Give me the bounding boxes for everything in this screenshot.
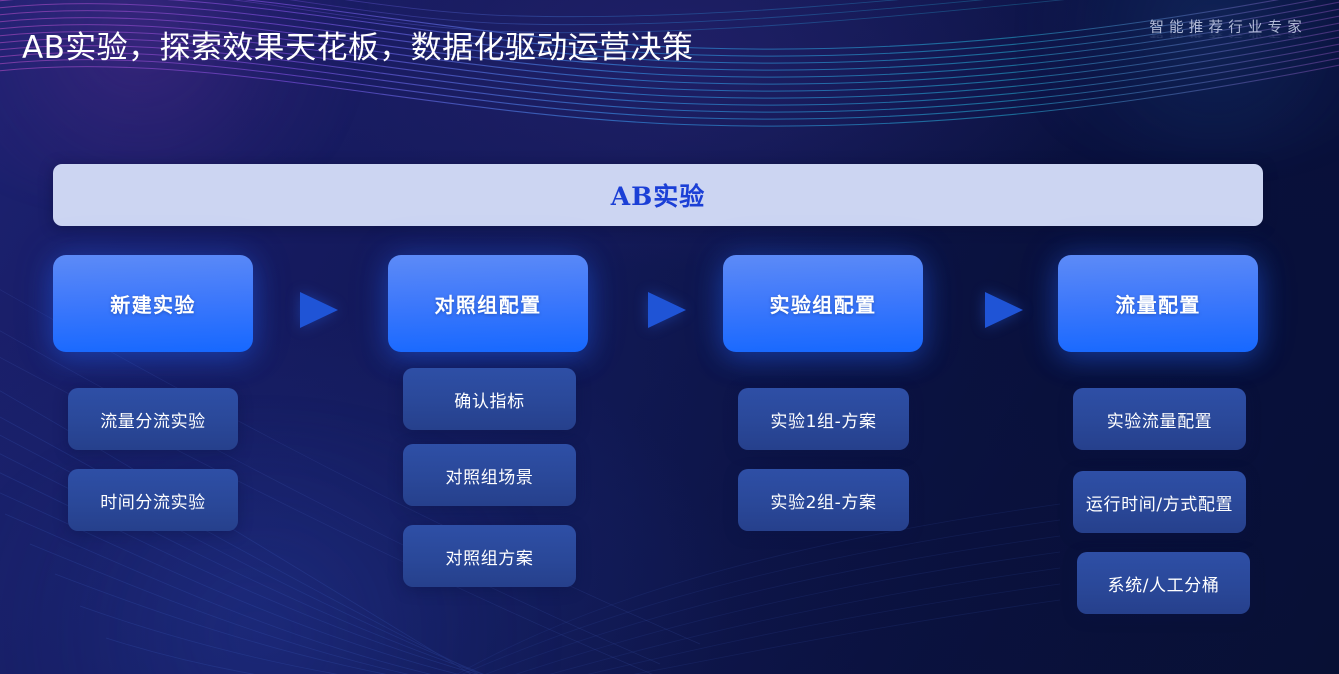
sub-box-traffic-split-experiment[interactable]: 流量分流实验 bbox=[68, 388, 238, 450]
sub-box-runtime-method-config[interactable]: 运行时间/方式配置 bbox=[1073, 471, 1246, 533]
stage-box-control-group-config[interactable]: 对照组配置 bbox=[388, 255, 588, 352]
triangle-right-icon bbox=[985, 292, 1023, 328]
sub-box-label: 确认指标 bbox=[454, 387, 524, 412]
sub-box-label: 实验1组-方案 bbox=[770, 407, 876, 432]
stage-box-new-experiment[interactable]: 新建实验 bbox=[53, 255, 253, 352]
header-banner-label: AB实验 bbox=[611, 177, 706, 213]
sub-box-label: 时间分流实验 bbox=[100, 488, 206, 513]
sub-box-experiment-group-1-plan[interactable]: 实验1组-方案 bbox=[738, 388, 909, 450]
triangle-right-icon bbox=[648, 292, 686, 328]
sub-box-experiment-group-2-plan[interactable]: 实验2组-方案 bbox=[738, 469, 909, 531]
sub-box-label: 系统/人工分桶 bbox=[1108, 571, 1220, 596]
sub-box-control-group-scenario[interactable]: 对照组场景 bbox=[403, 444, 576, 506]
sub-box-time-split-experiment[interactable]: 时间分流实验 bbox=[68, 469, 238, 531]
page-title: AB实验，探索效果天花板，数据化驱动运营决策 bbox=[22, 22, 693, 67]
sub-box-control-group-plan[interactable]: 对照组方案 bbox=[403, 525, 576, 587]
stage-label: 实验组配置 bbox=[770, 289, 877, 318]
watermark-reflection: 智能推荐行业专家 bbox=[1149, 29, 1307, 38]
sub-box-label: 运行时间/方式配置 bbox=[1086, 490, 1233, 515]
stage-label: 对照组配置 bbox=[435, 289, 542, 318]
slide-canvas: 智能推荐行业专家 智能推荐行业专家 AB实验，探索效果天花板，数据化驱动运营决策… bbox=[0, 0, 1339, 674]
watermark-text: 智能推荐行业专家 bbox=[1149, 20, 1307, 37]
sub-box-label: 对照组方案 bbox=[446, 544, 534, 569]
glow-top-right bbox=[999, 0, 1339, 160]
stage-label: 流量配置 bbox=[1115, 289, 1201, 318]
stage-label: 新建实验 bbox=[110, 289, 196, 318]
stage-box-traffic-config[interactable]: 流量配置 bbox=[1058, 255, 1258, 352]
brand-watermark: 智能推荐行业专家 智能推荐行业专家 bbox=[1149, 20, 1307, 54]
stage-box-experiment-group-config[interactable]: 实验组配置 bbox=[723, 255, 923, 352]
triangle-right-icon bbox=[300, 292, 338, 328]
sub-box-confirm-metrics[interactable]: 确认指标 bbox=[403, 368, 576, 430]
sub-box-label: 对照组场景 bbox=[446, 463, 534, 488]
sub-box-label: 实验流量配置 bbox=[1107, 407, 1213, 432]
sub-box-experiment-traffic-config[interactable]: 实验流量配置 bbox=[1073, 388, 1246, 450]
sub-box-system-manual-bucketing[interactable]: 系统/人工分桶 bbox=[1077, 552, 1250, 614]
header-banner: AB实验 bbox=[53, 164, 1263, 226]
sub-box-label: 流量分流实验 bbox=[100, 407, 206, 432]
sub-box-label: 实验2组-方案 bbox=[770, 488, 876, 513]
